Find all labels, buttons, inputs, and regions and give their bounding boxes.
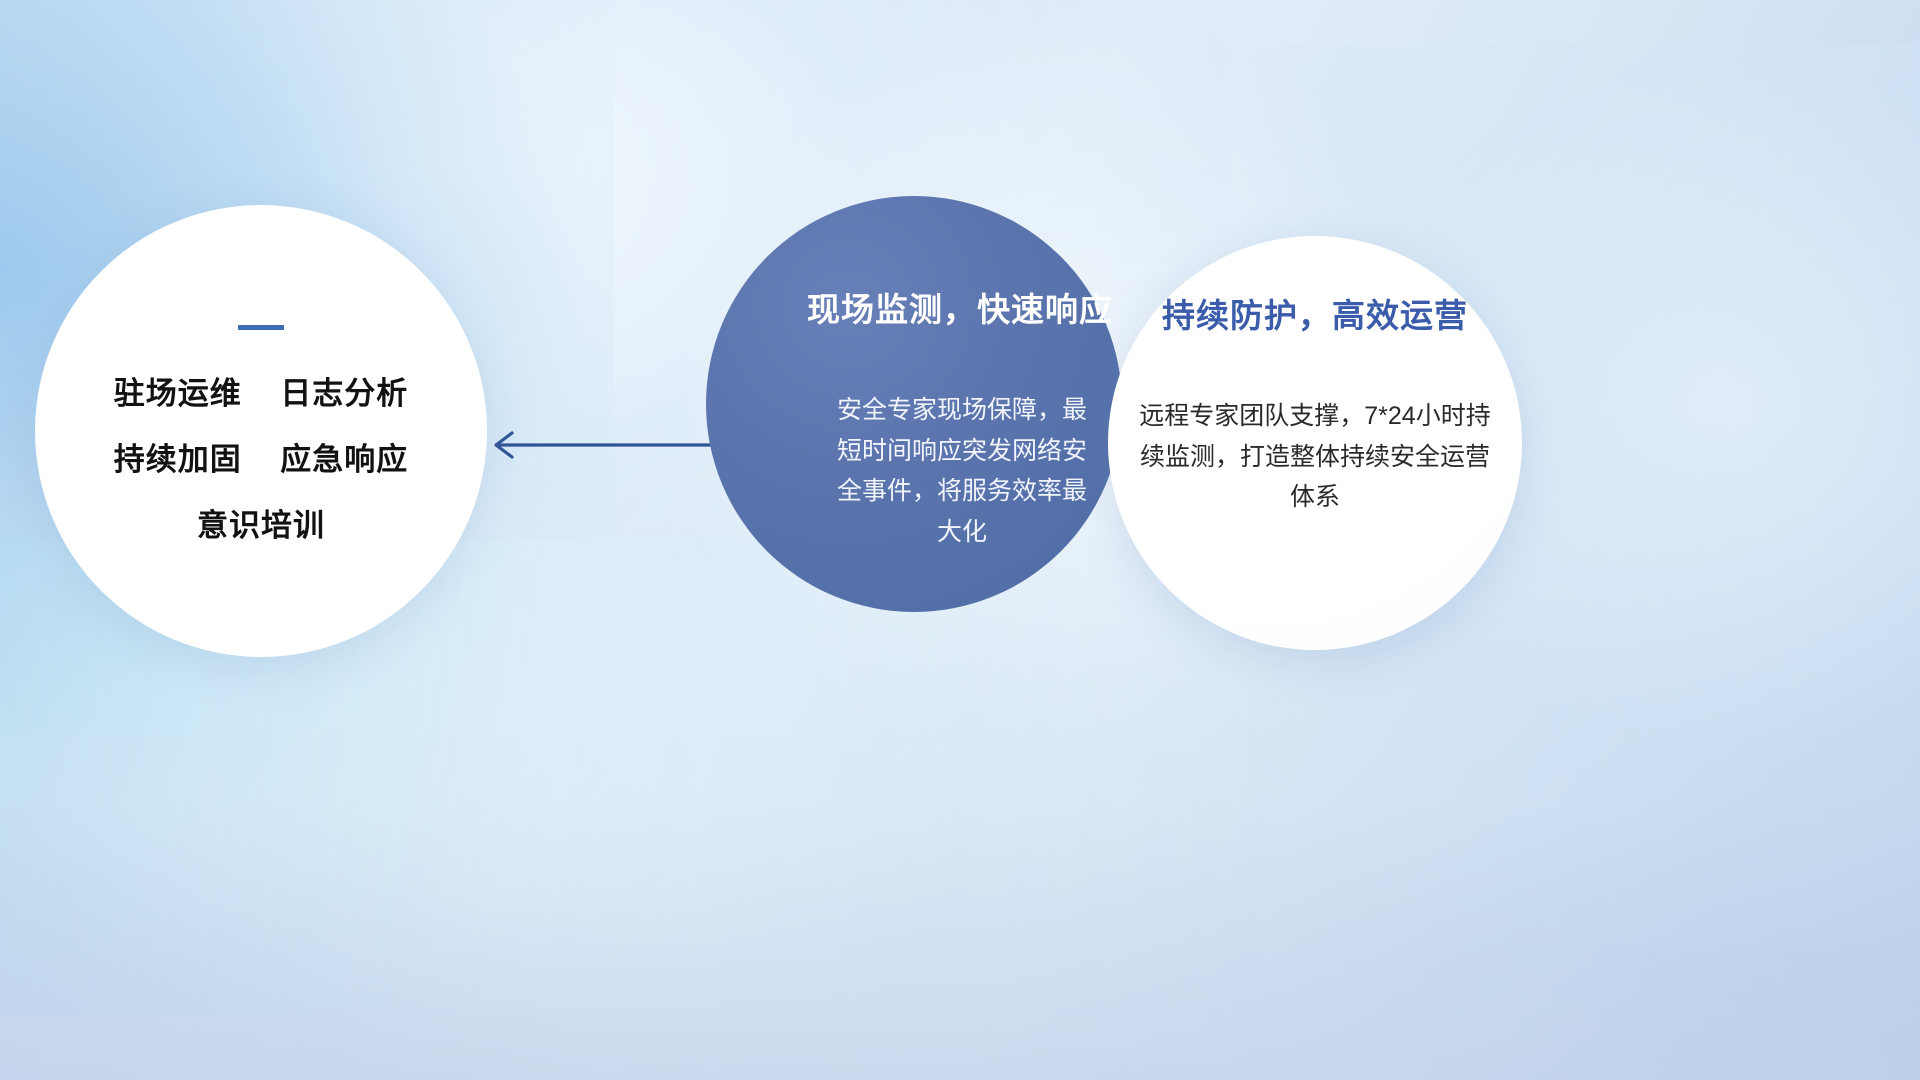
capabilities-circle: 驻场运维 日志分析 持续加固 应急响应 意识培训 [35,205,487,657]
onsite-monitoring-title: 现场监测，快速响应 [807,292,1113,328]
capability-line-3: 意识培训 [197,510,325,541]
slide-canvas: 驻场运维 日志分析 持续加固 应急响应 意识培训 现场监测，快速响应 安全专家现… [0,0,1920,1080]
capability-line-2: 持续加固 应急响应 [114,444,408,475]
onsite-monitoring-circle: 现场监测，快速响应 安全专家现场保障，最短时间响应突发网络安全事件，将服务效率最… [706,196,1122,612]
onsite-monitoring-body: 安全专家现场保障，最短时间响应突发网络安全事件，将服务效率最大化 [828,390,1096,552]
continuous-protection-circle: 持续防护，高效运营 远程专家团队支撑，7*24小时持续监测，打造整体持续安全运营… [1108,236,1522,650]
continuous-protection-title: 持续防护，高效运营 [1162,298,1468,334]
onsite-monitoring-content: 现场监测，快速响应 安全专家现场保障，最短时间响应突发网络安全事件，将服务效率最… [706,196,1122,612]
background-bottom-haze [0,799,1920,1080]
capabilities-content: 驻场运维 日志分析 持续加固 应急响应 意识培训 [35,205,487,657]
capability-line-1: 驻场运维 日志分析 [114,378,408,409]
continuous-protection-content: 持续防护，高效运营 远程专家团队支撑，7*24小时持续监测，打造整体持续安全运营… [1108,236,1522,650]
accent-dash-divider [238,325,284,330]
continuous-protection-body: 远程专家团队支撑，7*24小时持续监测，打造整体持续安全运营体系 [1134,396,1496,518]
